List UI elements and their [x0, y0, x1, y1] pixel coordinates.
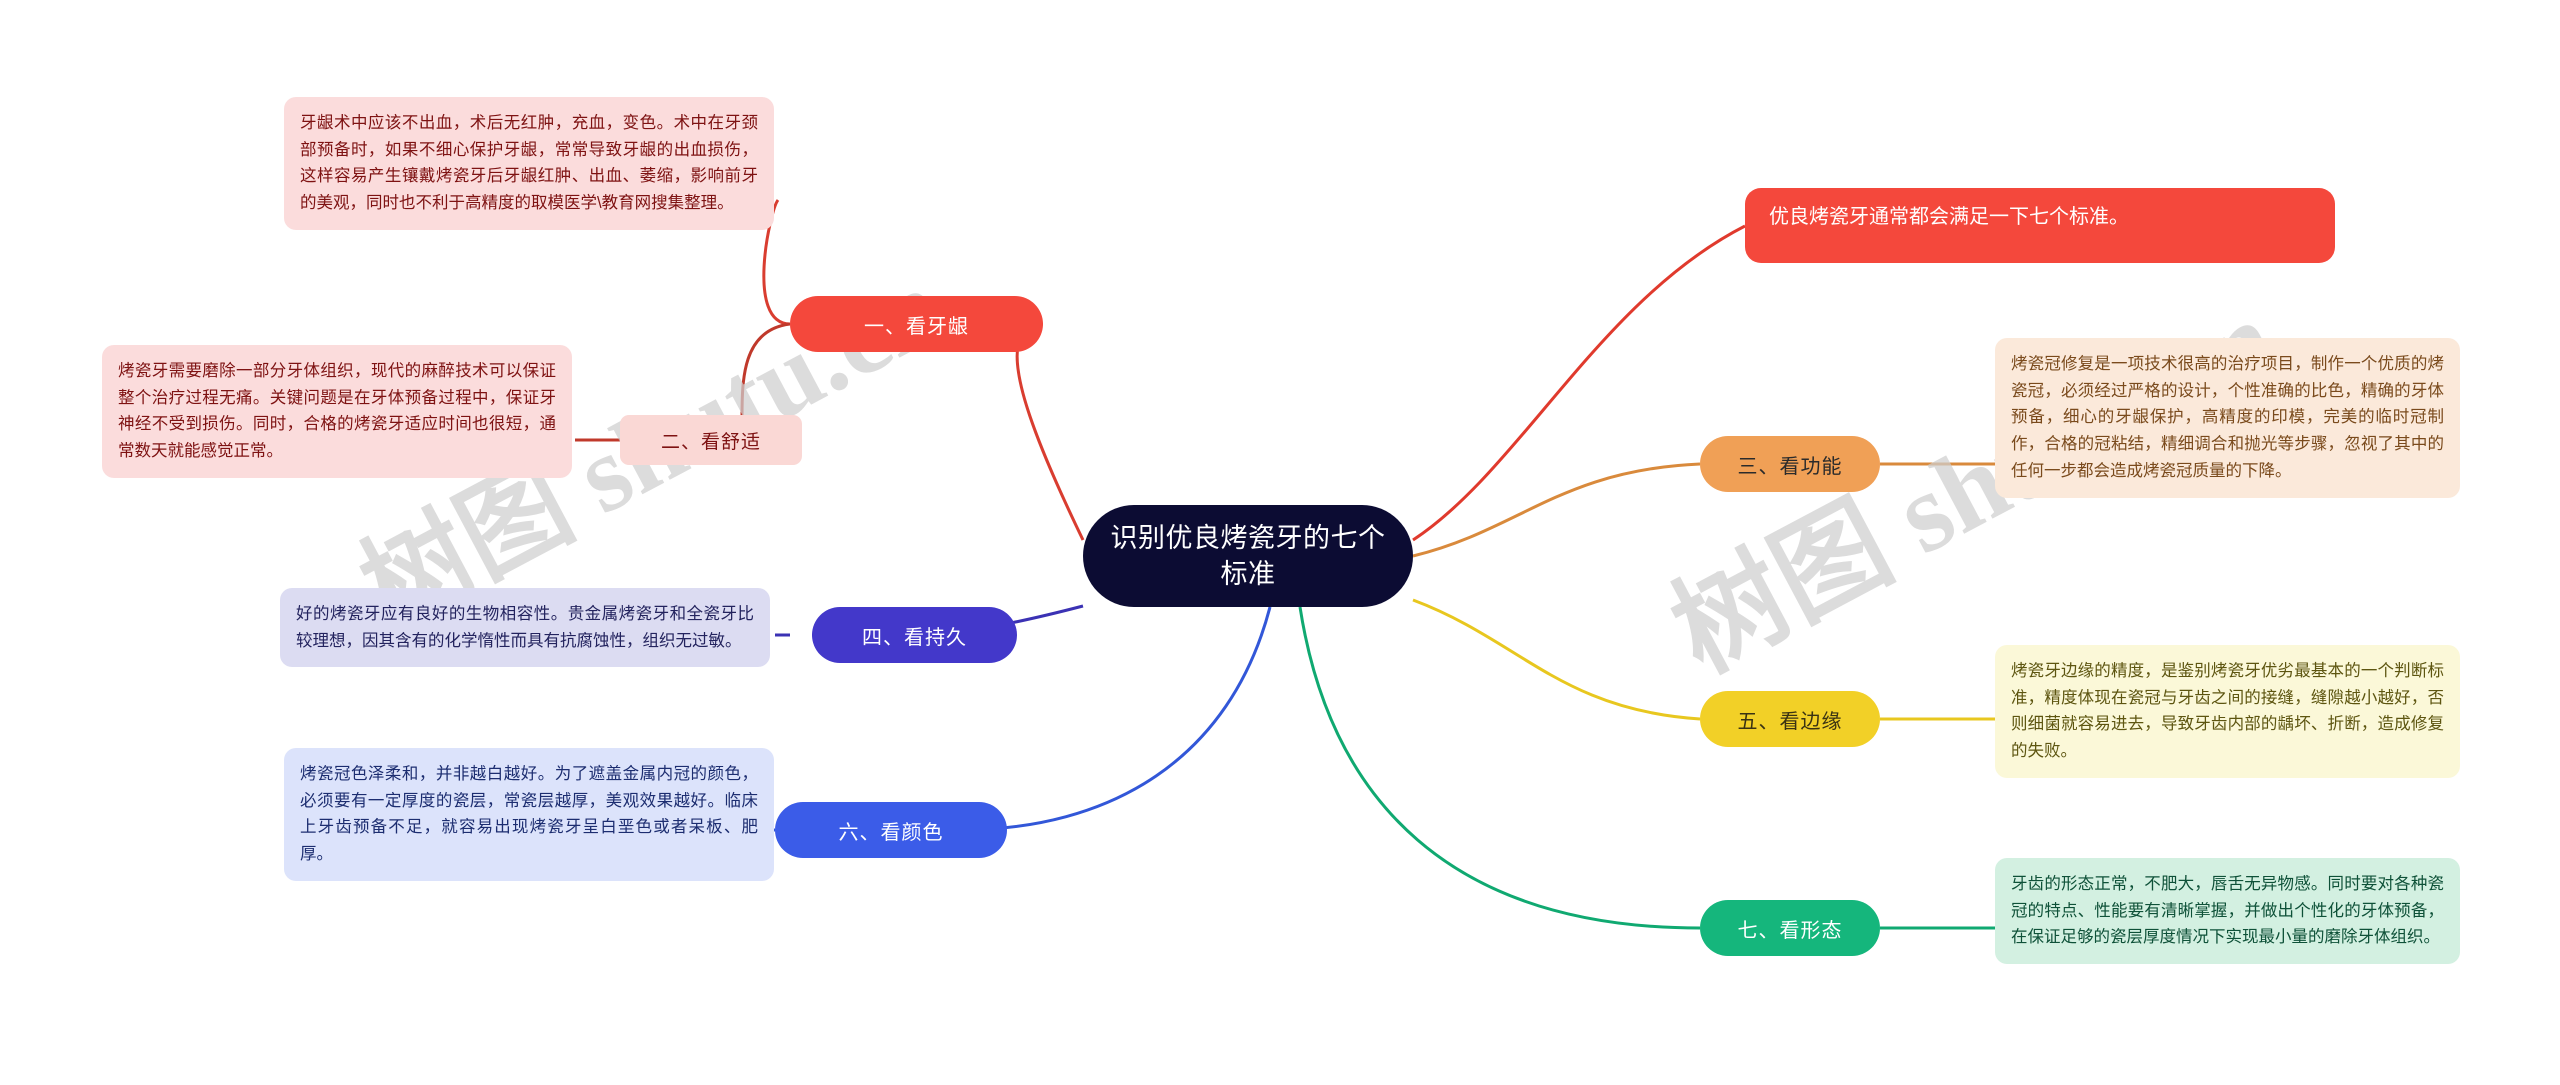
- branch-label-color: 六、看颜色: [839, 816, 944, 845]
- leaf-text-color: 烤瓷冠色泽柔和，并非越白越好。为了遮盖金属内冠的颜色，必须要有一定厚度的瓷层，常…: [300, 765, 758, 863]
- branch-node-function[interactable]: 三、看功能: [1700, 436, 1880, 492]
- branch-node-comfort[interactable]: 二、看舒适: [620, 415, 802, 465]
- branch-node-shape[interactable]: 七、看形态: [1700, 900, 1880, 956]
- leaf-box-color[interactable]: 烤瓷冠色泽柔和，并非越白越好。为了遮盖金属内冠的颜色，必须要有一定厚度的瓷层，常…: [284, 748, 774, 881]
- leaf-text-durable: 好的烤瓷牙应有良好的生物相容性。贵金属烤瓷牙和全瓷牙比较理想，因其含有的化学惰性…: [296, 605, 754, 650]
- leaf-text-comfort: 烤瓷牙需要磨除一部分牙体组织，现代的麻醉技术可以保证整个治疗过程无痛。关键问题是…: [118, 362, 556, 460]
- leaf-text-shape: 牙齿的形态正常，不肥大，唇舌无异物感。同时要对各种瓷冠的特点、性能要有清晰掌握，…: [2011, 875, 2444, 946]
- root-summary-banner[interactable]: 优良烤瓷牙通常都会满足一下七个标准。: [1745, 188, 2335, 263]
- root-summary-text: 优良烤瓷牙通常都会满足一下七个标准。: [1769, 206, 2129, 228]
- leaf-box-gum[interactable]: 牙龈术中应该不出血，术后无红肿，充血，变色。术中在牙颈部预备时，如果不细心保护牙…: [284, 97, 774, 230]
- leaf-box-comfort[interactable]: 烤瓷牙需要磨除一部分牙体组织，现代的麻醉技术可以保证整个治疗过程无痛。关键问题是…: [102, 345, 572, 478]
- leaf-box-function[interactable]: 烤瓷冠修复是一项技术很高的治疗项目，制作一个优质的烤瓷冠，必须经过严格的设计，个…: [1995, 338, 2460, 498]
- branch-node-durable[interactable]: 四、看持久: [812, 607, 1017, 663]
- leaf-box-durable[interactable]: 好的烤瓷牙应有良好的生物相容性。贵金属烤瓷牙和全瓷牙比较理想，因其含有的化学惰性…: [280, 588, 770, 667]
- branch-label-durable: 四、看持久: [862, 621, 967, 650]
- leaf-box-margin[interactable]: 烤瓷牙边缘的精度，是鉴别烤瓷牙优劣最基本的一个判断标准，精度体现在瓷冠与牙齿之间…: [1995, 645, 2460, 778]
- branch-node-gum[interactable]: 一、看牙龈: [790, 296, 1043, 352]
- leaf-text-margin: 烤瓷牙边缘的精度，是鉴别烤瓷牙优劣最基本的一个判断标准，精度体现在瓷冠与牙齿之间…: [2011, 662, 2444, 760]
- branch-label-gum: 一、看牙龈: [864, 310, 969, 339]
- leaf-text-function: 烤瓷冠修复是一项技术很高的治疗项目，制作一个优质的烤瓷冠，必须经过严格的设计，个…: [2011, 355, 2444, 480]
- leaf-box-shape[interactable]: 牙齿的形态正常，不肥大，唇舌无异物感。同时要对各种瓷冠的特点、性能要有清晰掌握，…: [1995, 858, 2460, 964]
- mindmap-canvas: 树图 shutu.cn 树图 shutu.cn 识别优良烤瓷牙的七个标准 优良烤…: [0, 0, 2560, 1085]
- branch-label-margin: 五、看边缘: [1738, 705, 1843, 734]
- leaf-text-gum: 牙龈术中应该不出血，术后无红肿，充血，变色。术中在牙颈部预备时，如果不细心保护牙…: [300, 114, 758, 212]
- branch-label-shape: 七、看形态: [1738, 914, 1843, 943]
- center-node-title: 识别优良烤瓷牙的七个标准: [1109, 520, 1387, 592]
- branch-label-function: 三、看功能: [1738, 450, 1843, 479]
- branch-node-color[interactable]: 六、看颜色: [775, 802, 1007, 858]
- branch-node-margin[interactable]: 五、看边缘: [1700, 691, 1880, 747]
- branch-label-comfort: 二、看舒适: [661, 427, 761, 454]
- center-node[interactable]: 识别优良烤瓷牙的七个标准: [1083, 505, 1413, 607]
